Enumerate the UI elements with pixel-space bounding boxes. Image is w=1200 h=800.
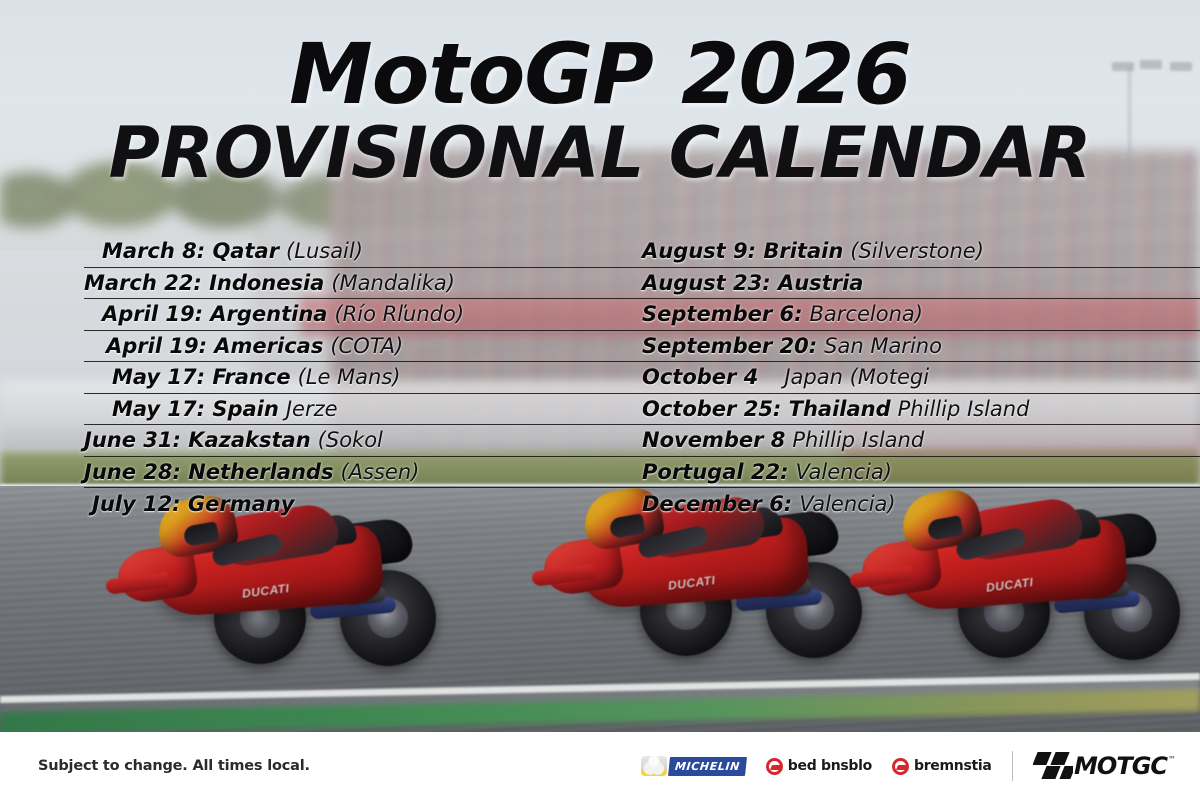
race-date-country: March 8: Qatar	[102, 239, 279, 263]
calendar-row: September 20: San Marino	[642, 331, 1200, 363]
michelin-logo: MICHELIN	[641, 756, 746, 776]
calendar-row: August 23: Austria	[642, 268, 1200, 300]
race-date-country: Portugal 22:	[642, 460, 789, 484]
calendar-row: April 19: Argentina (Río Rľundo)	[84, 299, 642, 331]
calendar-row: October 25: Thailand Phillip Island	[642, 394, 1200, 426]
sponsor-logo-strip: MICHELIN bed bnsblo bremnstia MOTGC	[641, 751, 1176, 781]
race-venue: (COTA)	[330, 334, 403, 358]
disclaimer-text: Subject to change. All times local.	[38, 758, 310, 774]
race-venue: (Le Mans)	[298, 365, 401, 389]
michelin-man-icon	[641, 756, 667, 776]
calendar-row: November 8 Phillip Island	[642, 425, 1200, 457]
race-venue: San Marino	[824, 334, 942, 358]
calendar-row: May 17: Spain Jerze	[84, 394, 642, 426]
race-date-country: September 6:	[642, 302, 803, 326]
race-venue: (Sokol	[318, 428, 383, 452]
race-venue: Valencia)	[799, 492, 895, 516]
race-venue: (Assen)	[340, 460, 419, 484]
motogp-wordmark: MOTGC	[1074, 752, 1167, 780]
calendar-row: August 9: Britain (Silverstone)	[642, 236, 1200, 268]
race-venue: Valencia)	[796, 460, 892, 484]
brembo-logo-2: bremnstia	[892, 758, 992, 775]
race-venue: Barcelona)	[810, 302, 923, 326]
calendar-row: April 19: Americas (COTA)	[84, 331, 642, 363]
brembo-wordmark-2: bremnstia	[914, 758, 992, 774]
calendar-row: March 8: Qatar (Lusail)	[84, 236, 642, 268]
michelin-wordmark: MICHELIN	[668, 757, 747, 776]
race-date-country: October 4	[642, 365, 758, 389]
race-venue: Phillip Island	[898, 397, 1030, 421]
race-venue: Jerze	[286, 397, 338, 421]
race-venue: (Lusail)	[286, 239, 363, 263]
race-date-country: October 25: Thailand	[642, 397, 891, 421]
calendar-column-left: March 8: Qatar (Lusail) March 22: Indone…	[84, 236, 642, 520]
race-date-country: June 28: Netherlands	[84, 460, 333, 484]
race-venue: Phillip Island	[792, 428, 924, 452]
race-date-country: March 22: Indonesia	[84, 271, 324, 295]
footer-bar: Subject to change. All times local. MICH…	[0, 732, 1200, 800]
trademark-symbol: ™	[1168, 755, 1176, 764]
calendar-row: June 31: Kazakstan (Sokol	[84, 425, 642, 457]
motogp-logo: MOTGC ™	[1033, 751, 1176, 781]
calendar-row: March 22: Indonesia (Mandalika)	[84, 268, 642, 300]
brembo-logo-1: bed bnsblo	[766, 758, 872, 775]
race-date-country: June 31: Kazakstan	[84, 428, 311, 452]
headline-line-1: MotoGP 2026	[0, 34, 1200, 115]
calendar-column-right: August 9: Britain (Silverstone) August 2…	[642, 236, 1200, 520]
motogp-calendar-poster: DUCATI DUCATI	[0, 0, 1200, 800]
race-venue: (Río Rľundo)	[334, 302, 464, 326]
brembo-mark-icon	[892, 758, 909, 775]
calendar-row: September 6: Barcelona)	[642, 299, 1200, 331]
race-venue: (Silverstone)	[850, 239, 984, 263]
calendar-row: December 6: Valencia)	[642, 488, 1200, 520]
race-date-country: November 8	[642, 428, 785, 452]
brembo-wordmark-1: bed bnsblo	[788, 758, 872, 774]
headline-line-2: PROVISIONAL CALENDAR	[0, 117, 1200, 191]
calendar-grid: March 8: Qatar (Lusail) March 22: Indone…	[0, 236, 1200, 520]
poster-headline: MotoGP 2026 PROVISIONAL CALENDAR	[0, 34, 1200, 190]
calendar-row: Portugal 22: Valencia)	[642, 457, 1200, 489]
race-venue: Japan (Motegi	[784, 365, 929, 389]
race-venue: (Mandalika)	[331, 271, 455, 295]
race-date-country: April 19: Argentina	[102, 302, 327, 326]
race-date-country: December 6:	[642, 492, 792, 516]
motogp-flag-icon	[1033, 751, 1073, 781]
race-date-country: August 23: Austria	[642, 271, 863, 295]
race-date-country: April 19: Americas	[106, 334, 323, 358]
calendar-row: October 4 Japan (Motegi	[642, 362, 1200, 394]
calendar-row: June 28: Netherlands (Assen)	[84, 457, 642, 489]
calendar-row: July 12: Germany	[84, 488, 642, 520]
race-date-country: September 20:	[642, 334, 817, 358]
calendar-row: May 17: France (Le Mans)	[84, 362, 642, 394]
logo-divider	[1012, 751, 1014, 781]
race-date-country: July 12: Germany	[92, 492, 294, 516]
brembo-mark-icon	[766, 758, 783, 775]
race-date-country: May 17: Spain	[112, 397, 279, 421]
race-date-country: August 9: Britain	[642, 239, 843, 263]
race-date-country: May 17: France	[112, 365, 291, 389]
